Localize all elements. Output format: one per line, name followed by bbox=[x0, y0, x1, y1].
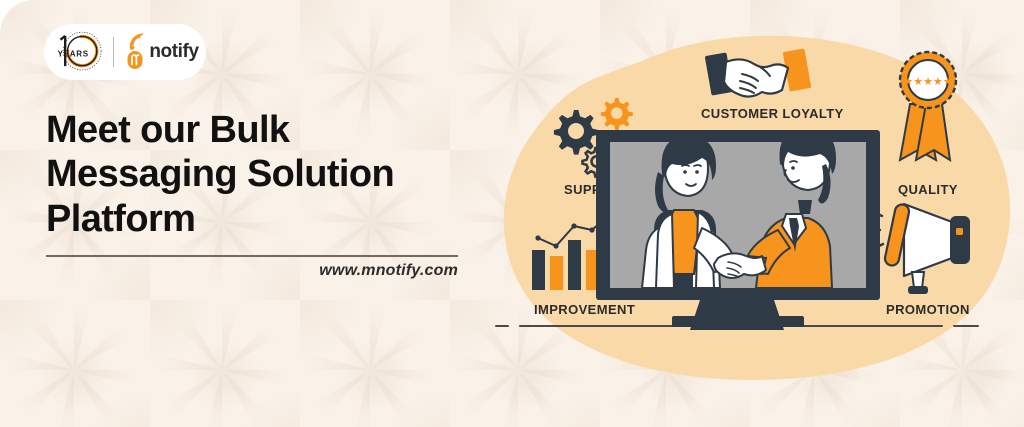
website-url: www.mnotify.com bbox=[46, 262, 458, 280]
monitor-handshake-icon bbox=[596, 128, 880, 330]
improvement-label: IMPROVEMENT bbox=[534, 302, 635, 317]
promotion-label: PROMOTION bbox=[886, 302, 970, 317]
banner: YEARS notify Meet our Bulk Messaging Sol… bbox=[0, 0, 1024, 427]
logo[interactable]: YEARS notify bbox=[44, 24, 206, 80]
svg-text:★★★★★: ★★★★★ bbox=[903, 75, 952, 88]
m-signal-icon bbox=[124, 32, 148, 72]
anniversary-seal-icon: YEARS bbox=[51, 29, 103, 75]
logo-wordmark: notify bbox=[149, 41, 198, 63]
illustration-svg: SUPPORT bbox=[486, 14, 1024, 414]
svg-text:YEARS: YEARS bbox=[58, 50, 89, 59]
logo-divider bbox=[113, 37, 114, 67]
mnotify-logo: notify bbox=[124, 32, 198, 72]
divider bbox=[46, 255, 458, 257]
page-title: Meet our Bulk Messaging Solution Platfor… bbox=[46, 108, 476, 241]
quality-stars: ★★★★★ bbox=[903, 75, 952, 88]
headline-line-3: Platform bbox=[46, 197, 476, 241]
headline-line-1: Meet our Bulk bbox=[46, 108, 476, 152]
quality-label: QUALITY bbox=[898, 182, 958, 197]
hero-illustration: SUPPORT bbox=[486, 14, 1024, 414]
customer-loyalty-label: CUSTOMER LOYALTY bbox=[701, 106, 844, 121]
headline-line-2: Messaging Solution bbox=[46, 152, 476, 196]
